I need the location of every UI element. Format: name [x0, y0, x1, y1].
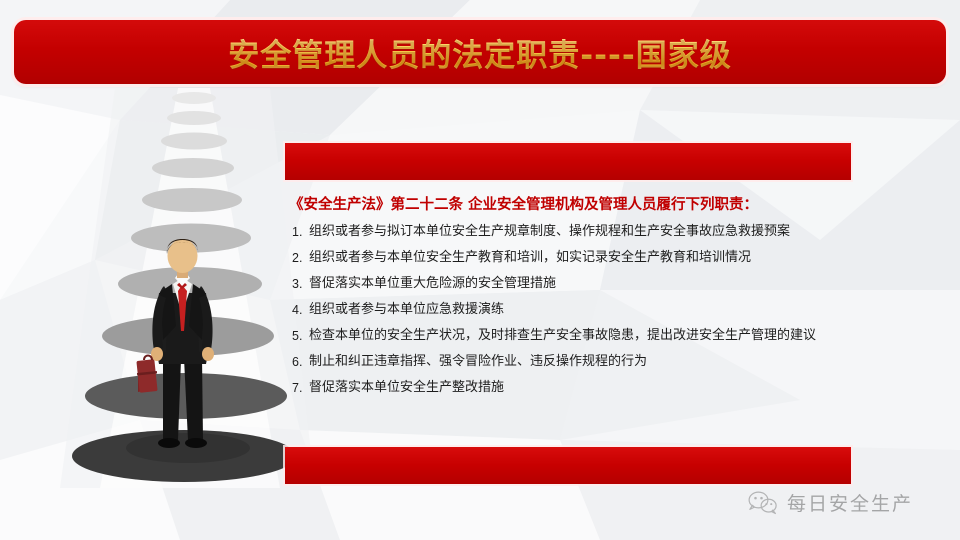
list-item-number: 4. [285, 301, 309, 319]
list-item: 5. 检查本单位的安全生产状况，及时排查生产安全事故隐患，提出改进安全生产管理的… [285, 327, 851, 345]
illustration-businessman [60, 88, 320, 488]
illustration-svg [60, 88, 320, 488]
list-item-number: 2. [285, 249, 309, 267]
watermark: 每日安全生产 [748, 489, 913, 516]
slide-root: 安全管理人员的法定职责----国家级 [0, 0, 960, 540]
list-item-number: 1. [285, 223, 309, 241]
list-item-text: 督促落实本单位安全生产整改措施 [309, 379, 851, 397]
list-item: 1. 组织或者参与拟订本单位安全生产规章制度、操作规程和生产安全事故应急救援预案 [285, 223, 851, 241]
page-title: 安全管理人员的法定职责----国家级 [228, 30, 731, 75]
list-item: 3. 督促落实本单位重大危险源的安全管理措施 [285, 275, 851, 293]
watermark-text: 每日安全生产 [787, 489, 913, 516]
list-item: 6. 制止和纠正违章指挥、强令冒险作业、违反操作规程的行为 [285, 353, 851, 371]
list-item: 4. 组织或者参与本单位应急救援演练 [285, 301, 851, 319]
wechat-icon [748, 490, 778, 516]
list-item-text: 督促落实本单位重大危险源的安全管理措施 [309, 275, 851, 293]
list-item-number: 3. [285, 275, 309, 293]
list-item-text: 组织或者参与本单位安全生产教育和培训，如实记录安全生产教育和培训情况 [309, 249, 851, 267]
content-top-red-bar [285, 143, 851, 180]
list-item-number: 5. [285, 327, 309, 345]
list-item-text: 组织或者参与本单位应急救援演练 [309, 301, 851, 319]
list-item-number: 6. [285, 353, 309, 371]
list-item-text: 制止和纠正违章指挥、强令冒险作业、违反操作规程的行为 [309, 353, 851, 371]
list-item-text: 检查本单位的安全生产状况，及时排查生产安全事故隐患，提出改进安全生产管理的建议 [309, 327, 851, 345]
content-panel: 《安全生产法》第二十二条 企业安全管理机构及管理人员履行下列职责： 1. 组织或… [285, 143, 851, 484]
list-item-number: 7. [285, 379, 309, 397]
slide-title-bar: 安全管理人员的法定职责----国家级 [14, 20, 946, 84]
list-item-text: 组织或者参与拟订本单位安全生产规章制度、操作规程和生产安全事故应急救援预案 [309, 223, 851, 241]
list-item: 2. 组织或者参与本单位安全生产教育和培训，如实记录安全生产教育和培训情况 [285, 249, 851, 267]
duties-list: 1. 组织或者参与拟订本单位安全生产规章制度、操作规程和生产安全事故应急救援预案… [285, 223, 851, 405]
content-sub-heading: 《安全生产法》第二十二条 企业安全管理机构及管理人员履行下列职责： [289, 193, 849, 214]
list-item: 7. 督促落实本单位安全生产整改措施 [285, 379, 851, 397]
content-bottom-red-bar [285, 447, 851, 484]
